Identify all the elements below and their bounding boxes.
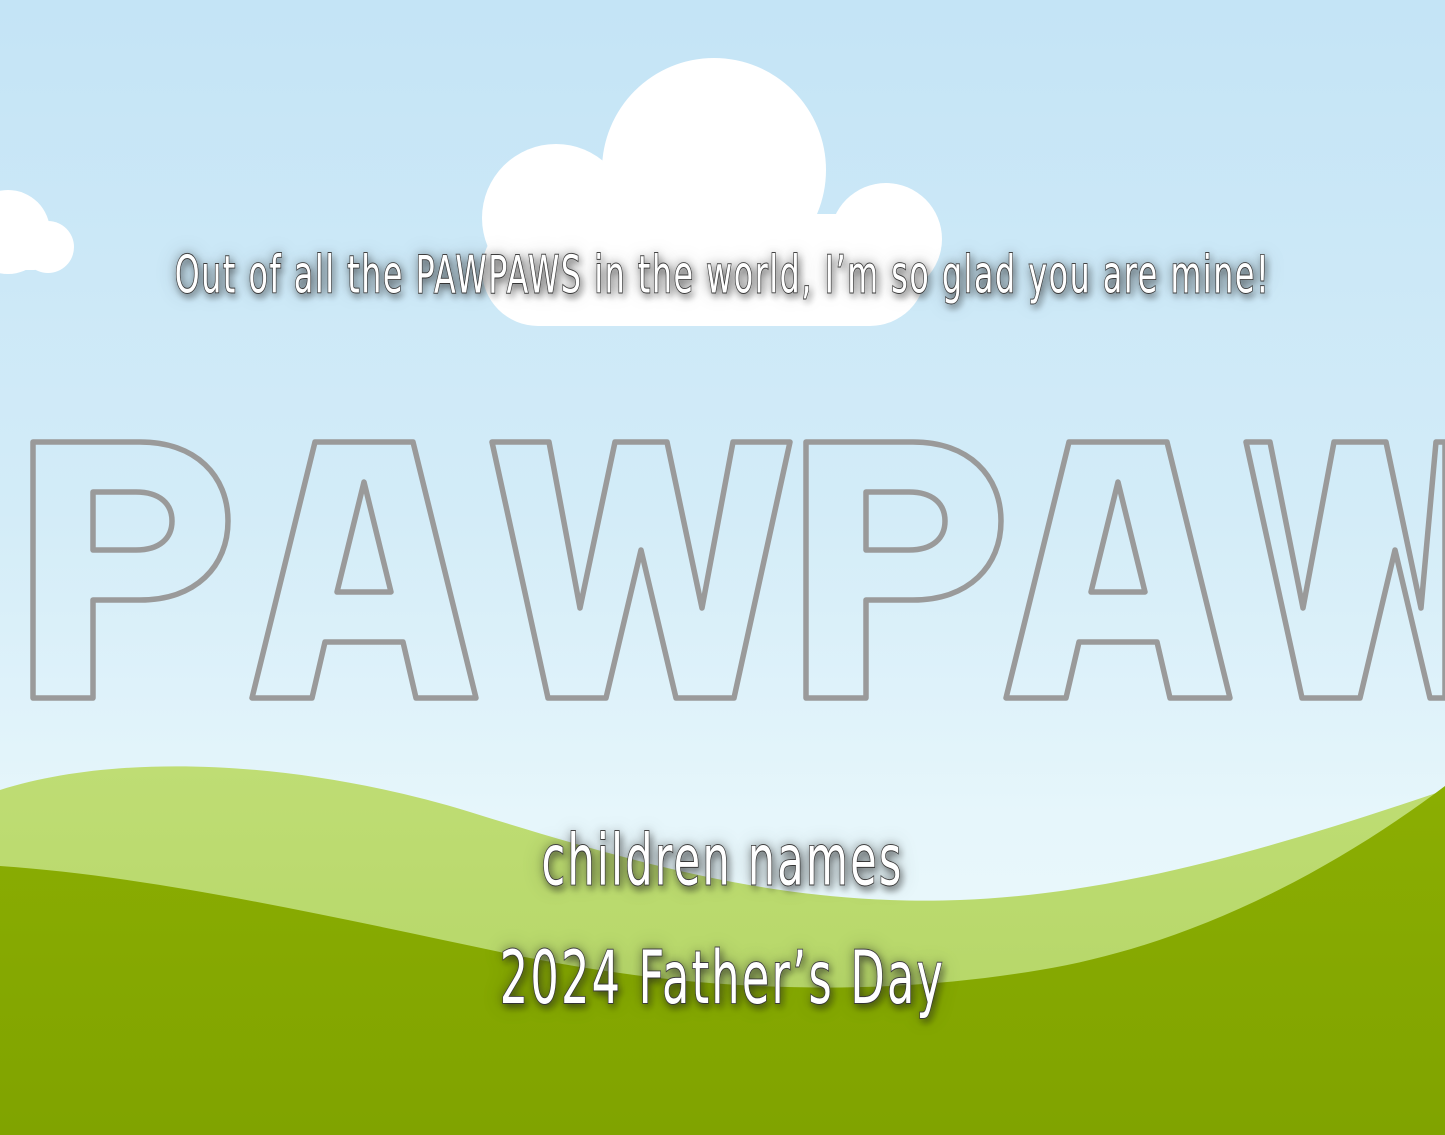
tagline-text: Out of all the PAWPAWS in the world, I’m… xyxy=(145,245,1301,306)
hill-icon-dark-in-letters xyxy=(0,634,1445,720)
fathers-day-text: 2024 Father’s Day xyxy=(145,936,1301,1021)
pawpaw-letter-outline xyxy=(33,442,1445,698)
pawpaw-wordmark xyxy=(0,420,1445,720)
letter-landscape-fill xyxy=(0,420,1445,720)
children-names-text: children names xyxy=(145,820,1301,903)
cloud-icon-in-letters xyxy=(52,440,1445,530)
greeting-card-poster: Out of all the PAWPAWS in the world, I’m… xyxy=(0,0,1445,1135)
